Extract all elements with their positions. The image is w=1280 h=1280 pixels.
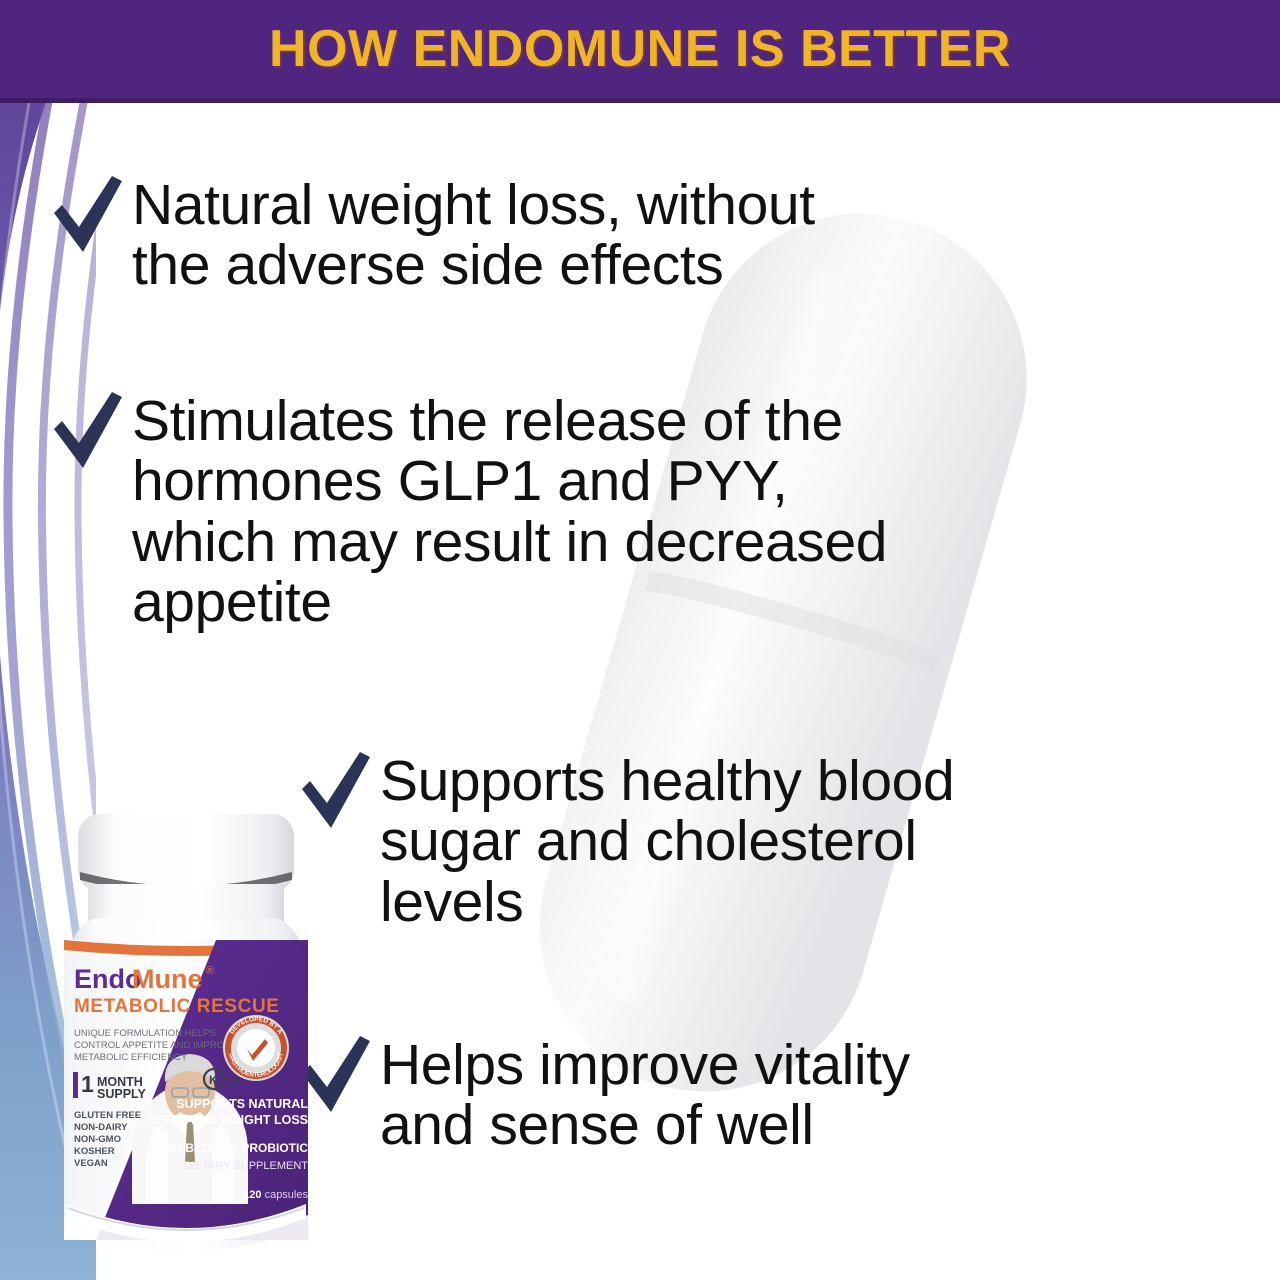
list-item-label: Natural weight loss, without the adverse… bbox=[132, 175, 815, 296]
bottle-desc-2: CONTROL APPETITE AND IMPROVE bbox=[74, 1040, 237, 1051]
registered-mark: ® bbox=[206, 965, 214, 977]
list-item-label: Supports healthy blood sugar and cholest… bbox=[380, 751, 954, 932]
bottle-desc-1: UNIQUE FORMULATION HELPS bbox=[74, 1028, 216, 1039]
infographic-canvas: Natural weight loss, without the adverse… bbox=[0, 0, 1280, 1280]
bottle-claim-1: SUPPORTS NATURAL bbox=[176, 1097, 308, 1111]
bottle-attr-0: GLUTEN FREE bbox=[74, 1110, 141, 1121]
gastroenterologist-seal: DEVELOPED BY A GASTROENTEROLOGIST bbox=[223, 1015, 289, 1081]
page-title: HOW ENDOMUNE IS BETTER bbox=[0, 0, 1280, 98]
checkmark-icon bbox=[52, 391, 124, 471]
product-bottle: Endo Mune ® METABOLIC RESCUE UNIQUE FORM… bbox=[56, 800, 316, 1270]
bottle-attr-1: NON-DAIRY bbox=[74, 1122, 128, 1133]
kosher-suffix: DE bbox=[226, 1076, 240, 1087]
bottle-attr-4: VEGAN bbox=[74, 1158, 108, 1169]
kosher-mark: K bbox=[209, 1073, 218, 1087]
bottle-brand-mune: Mune bbox=[132, 964, 203, 994]
list-item-label: Stimulates the release of the hormones G… bbox=[132, 391, 887, 633]
bottle-supply-supply: SUPPLY bbox=[97, 1087, 147, 1101]
bottle-attr-3: KOSHER bbox=[74, 1146, 115, 1157]
list-item: Natural weight loss, without the adverse… bbox=[52, 175, 1172, 296]
bottle-supply-number: 1 bbox=[81, 1071, 94, 1097]
list-item-label: Helps improve vitality and sense of well bbox=[380, 1035, 910, 1156]
list-item: Supports healthy blood sugar and cholest… bbox=[300, 751, 1250, 932]
list-item: Helps improve vitality and sense of well bbox=[300, 1035, 1250, 1156]
checkmark-icon bbox=[52, 175, 124, 255]
list-item: Stimulates the release of the hormones G… bbox=[52, 391, 1202, 633]
bottle-claim-2: EFFECTIVE WEIGHT LOSS bbox=[148, 1113, 308, 1127]
bottle-attr-2: NON-GMO bbox=[74, 1134, 121, 1145]
bottle-claim-3: PREBIOTIC & PROBIOTIC bbox=[161, 1141, 309, 1155]
bottle-product-line: METABOLIC RESCUE bbox=[74, 996, 280, 1017]
bottle-claim-4: DIETARY SUPPLEMENT bbox=[184, 1160, 308, 1172]
bottle-desc-3: METABOLIC EFFICIENCY bbox=[74, 1052, 188, 1063]
bottle-count: 120 capsules bbox=[243, 1189, 308, 1201]
